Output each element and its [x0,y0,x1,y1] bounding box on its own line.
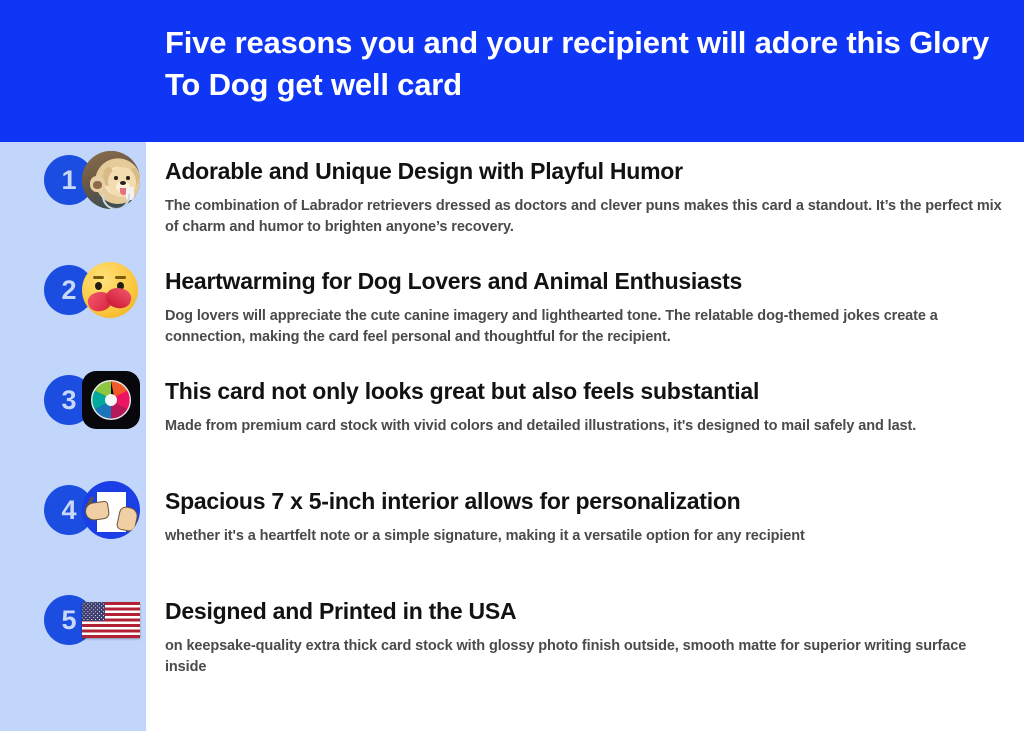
reasons-list: Adorable and Unique Design with Playful … [146,142,1024,731]
hugging-face-emoji-icon [82,261,140,319]
rainbow-aperture-icon [82,371,140,429]
reason-body: Dog lovers will appreciate the cute cani… [165,306,1005,348]
reason-body: The combination of Labrador retrievers d… [165,196,1005,238]
reason-body: whether it's a heartfelt note or a simpl… [165,526,1005,547]
reason-heading: Adorable and Unique Design with Playful … [165,158,1015,185]
reason-heading: Designed and Printed in the USA [165,598,1015,625]
dog-doctor-photo-icon [82,151,140,209]
reason-body: on keepsake-quality extra thick card sto… [165,636,1005,678]
reason-heading: This card not only looks great but also … [165,378,1015,405]
usa-flag-icon [82,591,140,649]
page-title: Five reasons you and your recipient will… [165,22,995,106]
hands-writing-note-icon [82,481,140,539]
reason-heading: Spacious 7 x 5-inch interior allows for … [165,488,1015,515]
reason-body: Made from premium card stock with vivid … [165,416,1005,437]
reason-heading: Heartwarming for Dog Lovers and Animal E… [165,268,1015,295]
header-banner: Five reasons you and your recipient will… [0,0,1024,142]
